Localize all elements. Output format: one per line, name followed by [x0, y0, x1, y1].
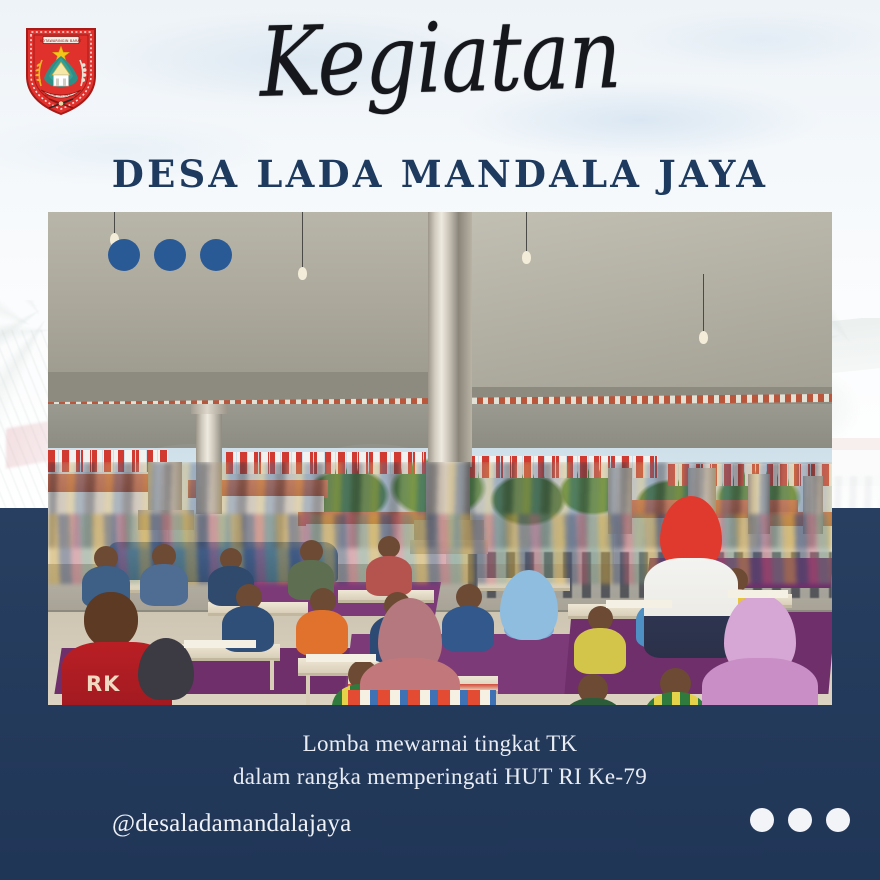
event-photo: RK [48, 212, 832, 705]
accent-dot-3 [200, 239, 232, 271]
caption-line-1: Lomba mewarnai tingkat TK [0, 728, 880, 761]
footer-accent-dots [750, 808, 850, 832]
footer-dot-1 [750, 808, 774, 832]
event-caption: Lomba mewarnai tingkat TK dalam rangka m… [0, 728, 880, 793]
social-handle: @desaladamandalajaya [112, 810, 351, 838]
accent-dot-2 [154, 239, 186, 271]
script-title-text: Kegiatan [258, 4, 621, 114]
footer-dot-3 [826, 808, 850, 832]
accent-dot-1 [108, 239, 140, 271]
footer-dot-2 [788, 808, 812, 832]
page-title: DESA LADA MANDALA JAYA [0, 152, 880, 196]
photo-accent-dots [108, 239, 232, 271]
caption-line-2: dalam rangka memperingati HUT RI Ke-79 [0, 761, 880, 794]
poster-canvas: KOTAWARINGIN BARAT [0, 0, 880, 880]
